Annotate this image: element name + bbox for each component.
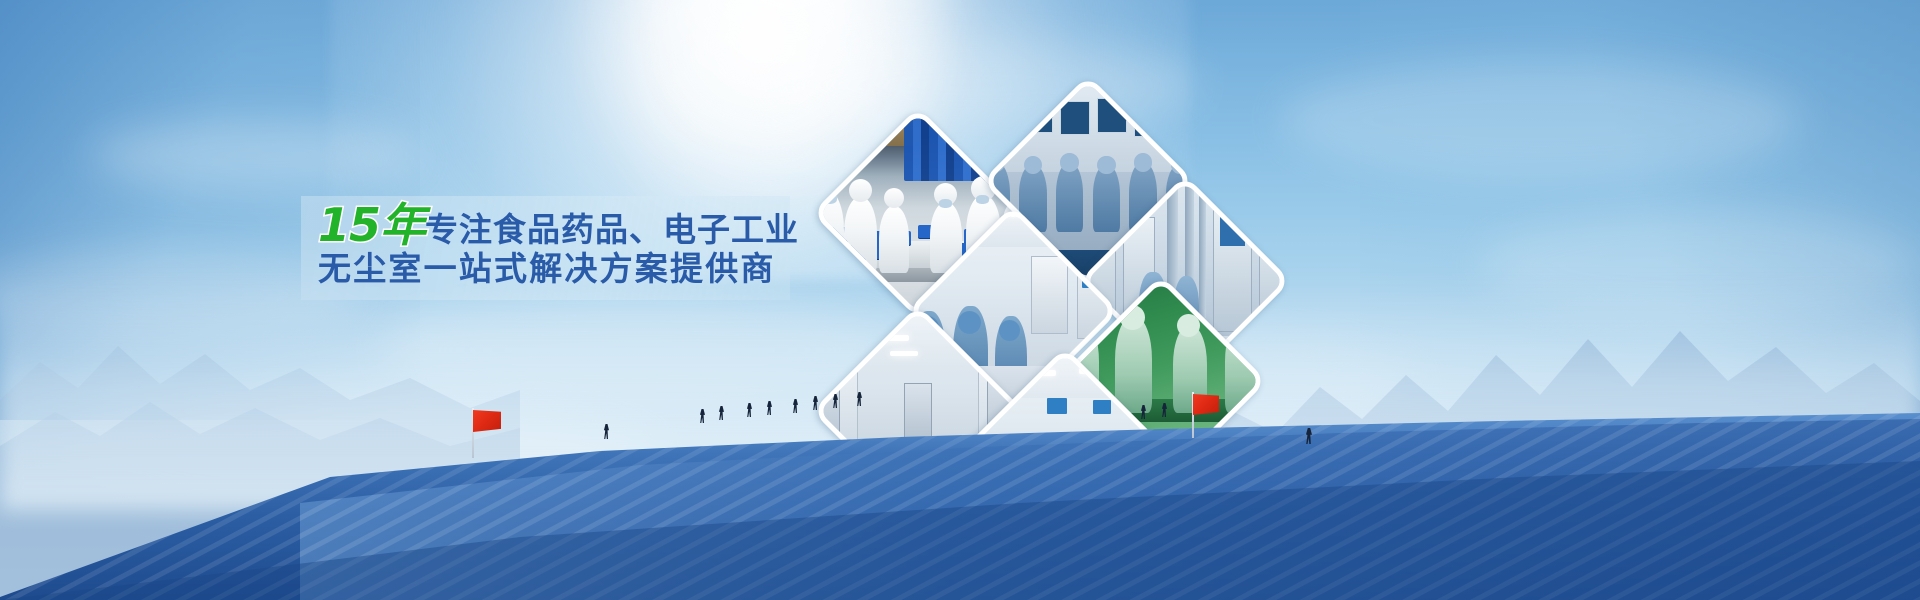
cloud [1280,60,1800,180]
headline-line-2: 无尘室一站式解决方案提供商 [318,251,788,288]
flag-cloth [1193,394,1219,415]
flag-cloth [473,410,501,432]
headline: 15年专注食品药品、电子工业 无尘室一站式解决方案提供商 [318,202,788,288]
summit-flag-right [1192,392,1220,438]
summit-flag-left [472,408,502,458]
years-number: 15年 [318,198,425,252]
headline-line-1-rest: 专注食品药品、电子工业 [425,210,799,249]
cloud [90,120,420,190]
foreground-ridge [0,385,1920,600]
headline-line-1: 15年专注食品药品、电子工业 [318,202,788,249]
hero-banner: 15年专注食品药品、电子工业 无尘室一站式解决方案提供商 [0,0,1920,600]
